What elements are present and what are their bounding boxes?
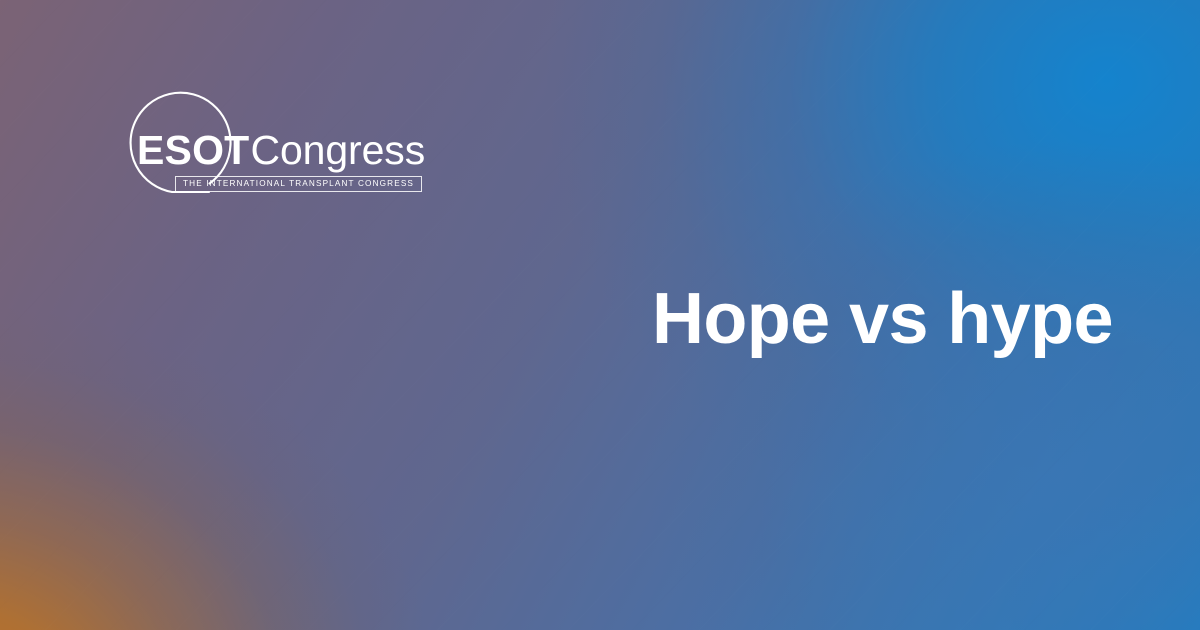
gradient-glow-orange xyxy=(0,150,680,630)
logo-tagline: THE INTERNATIONAL TRANSPLANT CONGRESS xyxy=(175,176,422,192)
gradient-glow-steel xyxy=(500,130,1200,630)
logo-wordmark: ESOT Congress xyxy=(137,130,425,171)
promo-card: ESOT Congress THE INTERNATIONAL TRANSPLA… xyxy=(0,0,1200,630)
logo-brand-light: Congress xyxy=(250,130,425,171)
logo-brand-bold: ESOT xyxy=(137,130,249,171)
headline-title: Hope vs hype xyxy=(652,281,1113,359)
esot-congress-logo: ESOT Congress THE INTERNATIONAL TRANSPLA… xyxy=(112,82,402,206)
